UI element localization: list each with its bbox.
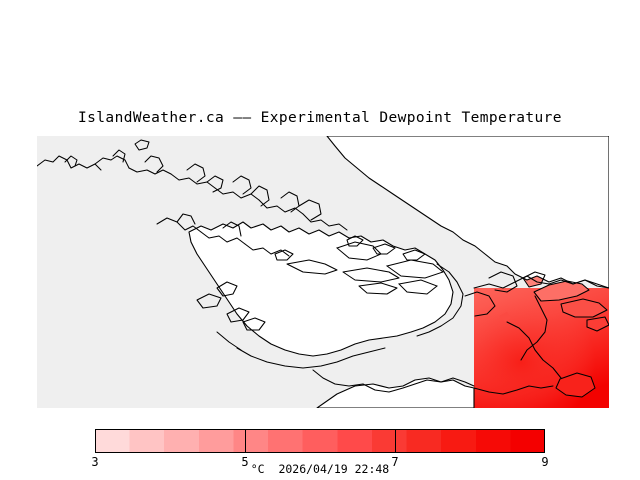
colorbar-tick-5 <box>245 429 246 453</box>
colorbar-caption: °C 2026/04/19 22:48 <box>0 462 640 476</box>
map-render-canvas <box>37 136 609 408</box>
colorbar[interactable] <box>95 429 545 453</box>
weather-map-figure: IslandWeather.ca —— Experimental Dewpoin… <box>0 0 640 480</box>
colorbar-gradient <box>95 429 545 453</box>
colorbar-tick-7 <box>395 429 396 453</box>
map-plot-area[interactable] <box>37 136 609 408</box>
page-title: IslandWeather.ca —— Experimental Dewpoin… <box>0 110 640 126</box>
